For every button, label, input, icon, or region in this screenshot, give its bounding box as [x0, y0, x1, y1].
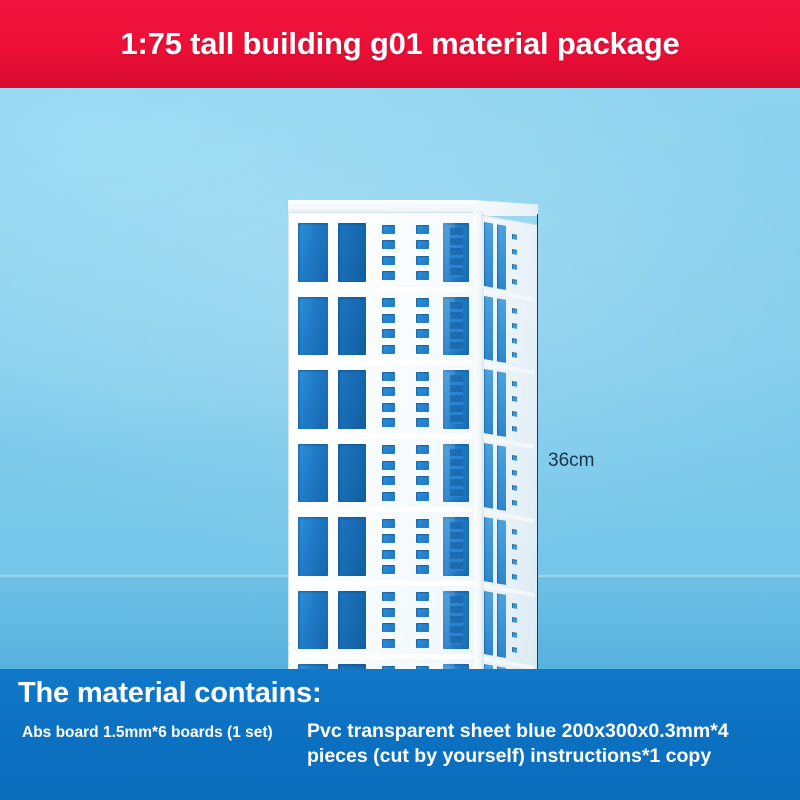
side-square-group — [521, 594, 534, 666]
window-square — [416, 623, 429, 632]
side-square-group — [508, 223, 521, 295]
side-square-group — [508, 592, 521, 664]
window-square — [382, 387, 395, 396]
window-square — [382, 608, 395, 617]
building-front-face — [288, 212, 478, 669]
window-wide — [443, 444, 469, 503]
front-floor-row — [293, 365, 473, 439]
window-square — [382, 271, 395, 280]
side-square-group — [521, 226, 534, 298]
window-square — [416, 387, 429, 396]
side-window-strip — [495, 295, 508, 367]
window-square — [382, 445, 395, 454]
window-square — [416, 418, 429, 427]
side-square-group — [521, 520, 534, 592]
front-floor-row — [293, 512, 473, 586]
height-dimension-line — [537, 214, 538, 669]
front-floor-row — [293, 586, 473, 660]
window-square — [382, 461, 395, 470]
window-square-group — [371, 512, 405, 581]
window-tall — [298, 591, 328, 650]
window-square — [382, 418, 395, 427]
window-square — [382, 492, 395, 501]
window-tall — [338, 444, 366, 503]
side-square-group — [521, 299, 534, 371]
side-window-strip — [495, 442, 508, 514]
roof-cap-top — [474, 200, 538, 216]
window-tall — [338, 591, 366, 650]
window-square — [382, 345, 395, 354]
window-square — [416, 608, 429, 617]
window-square — [382, 329, 395, 338]
front-floor-row — [293, 439, 473, 513]
tall-building-model — [288, 200, 540, 669]
building-corner-post — [474, 212, 482, 669]
side-floor-row — [482, 514, 534, 597]
window-square — [416, 550, 429, 559]
window-square — [416, 345, 429, 354]
window-wide — [443, 370, 469, 429]
window-square-group — [371, 292, 405, 361]
window-tall — [338, 370, 366, 429]
window-square-group — [405, 439, 439, 508]
window-square — [416, 372, 429, 381]
side-window-strip — [495, 516, 508, 588]
window-tall — [338, 297, 366, 356]
window-square — [416, 445, 429, 454]
window-square-group — [405, 292, 439, 361]
window-square-group — [405, 365, 439, 434]
front-floor-row — [293, 292, 473, 366]
window-square — [382, 623, 395, 632]
side-window-strip — [482, 366, 495, 438]
window-square-group — [371, 218, 405, 287]
material-item-abs-board: Abs board 1.5mm*6 boards (1 set) — [22, 724, 273, 742]
window-square-group — [371, 586, 405, 655]
side-window-strip — [495, 590, 508, 662]
window-square — [382, 298, 395, 307]
window-square — [416, 314, 429, 323]
side-window-strip — [495, 221, 508, 293]
side-square-group — [521, 373, 534, 445]
window-wide — [443, 517, 469, 576]
side-floor-row — [482, 587, 534, 669]
side-square-group — [508, 444, 521, 516]
side-window-strip — [482, 219, 495, 291]
front-floor-row — [293, 218, 473, 292]
window-square — [416, 534, 429, 543]
window-tall — [298, 370, 328, 429]
side-window-strip — [495, 368, 508, 440]
building-side-face — [478, 214, 538, 669]
height-dimension-label: 36cm — [548, 450, 594, 472]
window-tall — [298, 444, 328, 503]
side-floor-row — [482, 366, 534, 449]
window-square — [416, 240, 429, 249]
side-window-strip — [482, 440, 495, 512]
window-square-group — [371, 439, 405, 508]
window-square-group — [371, 659, 405, 669]
window-tall — [298, 517, 328, 576]
side-window-strip — [482, 514, 495, 586]
window-square — [382, 592, 395, 601]
window-square — [382, 565, 395, 574]
window-square — [416, 492, 429, 501]
window-tall — [298, 297, 328, 356]
window-tall — [298, 223, 328, 282]
material-contains-heading: The material contains: — [18, 677, 321, 710]
side-window-strip — [482, 292, 495, 364]
window-tall — [338, 517, 366, 576]
window-square — [416, 298, 429, 307]
window-square — [416, 565, 429, 574]
window-square — [382, 256, 395, 265]
window-wide — [443, 223, 469, 282]
side-square-group — [508, 371, 521, 443]
page-title: 1:75 tall building g01 material package — [0, 0, 800, 88]
window-tall — [338, 223, 366, 282]
window-square — [382, 639, 395, 648]
window-square — [416, 592, 429, 601]
window-square — [416, 403, 429, 412]
window-square — [382, 534, 395, 543]
side-floor-row — [482, 440, 534, 523]
window-square — [382, 240, 395, 249]
window-square — [382, 403, 395, 412]
material-item-pvc-sheet: Pvc transparent sheet blue 200x300x0.3mm… — [307, 719, 777, 769]
window-square — [382, 314, 395, 323]
title-banner: 1:75 tall building g01 material package — [0, 0, 800, 88]
side-window-strip — [482, 661, 495, 669]
window-square — [416, 329, 429, 338]
window-square-group — [405, 586, 439, 655]
side-square-group — [508, 297, 521, 369]
window-square-group — [405, 512, 439, 581]
window-square-group — [371, 365, 405, 434]
side-floor-row — [482, 219, 534, 302]
window-square-group — [405, 659, 439, 669]
window-square — [416, 519, 429, 528]
front-floor-row — [293, 659, 473, 669]
window-square — [416, 461, 429, 470]
window-square — [382, 519, 395, 528]
window-square — [382, 225, 395, 234]
window-wide — [443, 591, 469, 650]
window-square — [416, 271, 429, 280]
window-wide — [443, 297, 469, 356]
window-square-group — [405, 218, 439, 287]
product-photo-scene: 12cm 12cm 36cm — [0, 88, 800, 669]
side-floor-row — [482, 292, 534, 375]
window-square — [382, 476, 395, 485]
window-square — [416, 639, 429, 648]
window-square — [382, 550, 395, 559]
window-square — [416, 476, 429, 485]
window-square — [416, 225, 429, 234]
side-window-strip — [482, 587, 495, 659]
side-square-group — [508, 518, 521, 590]
product-image: 1:75 tall building g01 material package — [0, 0, 800, 800]
window-square — [382, 372, 395, 381]
window-square — [416, 256, 429, 265]
material-contains-banner: The material contains: Abs board 1.5mm*6… — [0, 669, 800, 800]
side-square-group — [521, 447, 534, 519]
